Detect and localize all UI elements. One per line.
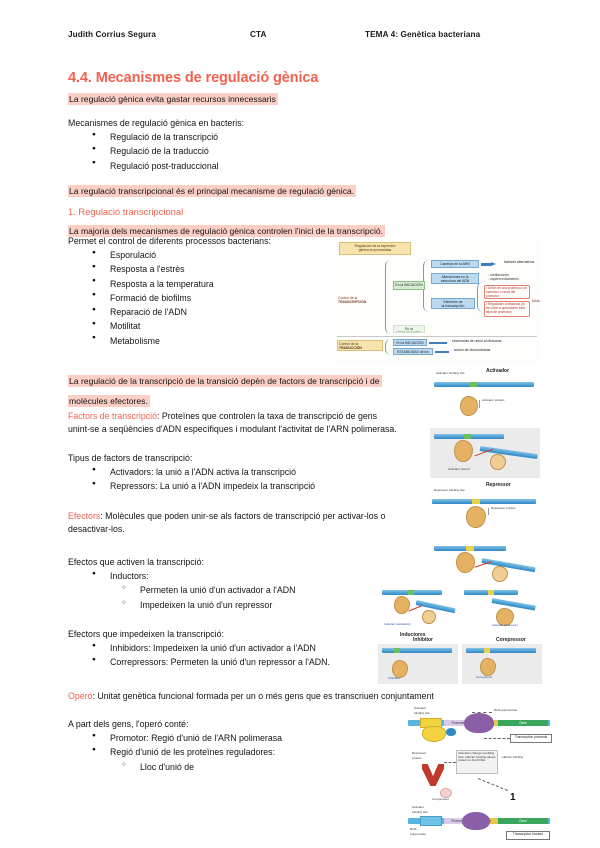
- concept-map-branch-3: Efectores de la transcripción: [431, 298, 475, 309]
- figure-repressor-top: Repressor Repressor binding site Repress…: [430, 482, 540, 538]
- inducer-activator-label: Inductor (activador): [384, 623, 411, 627]
- figure-activator-top: Activador Activator binding site Activat…: [430, 368, 540, 426]
- leader-line: [479, 400, 480, 408]
- operon-parts-heading: A part dels gens, l'operó conté:: [68, 718, 398, 731]
- list-item: Regió d'unió de les proteïnes reguladore…: [68, 745, 398, 759]
- transition-highlight-block: La regulació de la transcripció de la tr…: [68, 371, 468, 409]
- activator-binding-site-label: Activator binding site: [436, 372, 465, 376]
- concept-map-brace-1: [385, 260, 394, 334]
- operon-transcription-on: Transcription proceeds: [510, 734, 552, 743]
- repressor-protein-label: Repressor protein: [491, 507, 516, 511]
- concept-map-initiation: En la INICIACIÓN: [393, 281, 425, 290]
- polymerase-strand: [492, 598, 536, 611]
- transition-highlight-line2: molècules efectores.: [68, 391, 468, 409]
- list-item: Permeten la unió d'un activador a l'ADN: [68, 583, 398, 597]
- rna-polymerase-shape: [422, 610, 436, 624]
- corepressor-protein-shape: [480, 658, 496, 676]
- concept-map-branch-3-right-2: • Regulación a distancia (la de unión a …: [484, 301, 530, 317]
- inhibitor-label: Inhibidor: [388, 677, 400, 681]
- effector-shape: [446, 728, 456, 736]
- dna-operator-segment: [472, 499, 480, 504]
- concept-map-branch-1-right: factores alternativos: [503, 259, 537, 268]
- activator-protein-shape: [460, 396, 478, 416]
- operon-transcription-off: Transcription blocked: [506, 831, 550, 840]
- concept-map-branch-3-tail: Moduladores: [531, 298, 540, 306]
- operon-definition-block: Operó: Unitat genètica funcional formada…: [68, 690, 528, 703]
- operon-activator-notbound-label: Activator: [412, 806, 424, 810]
- leader-line: [444, 762, 456, 763]
- operon-callout: Allosteric change resulting from effecto…: [456, 750, 498, 774]
- effectors-block: Efectors: Molècules que poden unir-se al…: [68, 510, 418, 536]
- dna-operator-segment: [484, 648, 490, 653]
- concept-map-termination: En la TERMINACIÓN: [393, 325, 425, 333]
- dna-strand: [434, 546, 506, 551]
- concept-map-title-line2: génica en procariotas: [359, 248, 391, 252]
- transition-highlight-line1: La regulació de la transcripció de la tr…: [68, 371, 468, 389]
- main-highlight-block: La regulació transcripcional és el princ…: [68, 181, 468, 199]
- main-highlight: La regulació transcripcional és el princ…: [68, 185, 356, 197]
- activator-bound-label: Activator bound: [448, 468, 470, 472]
- operon-activator-site-label-2: binding site: [414, 712, 430, 716]
- inhibiting-effects-heading: Efectors que impedeixen la transcripció:: [68, 628, 418, 641]
- dna-strand: [434, 434, 504, 439]
- activator-caption: Activador: [486, 368, 509, 374]
- concept-map-trad-2: ESTABILIDAD de los ARNm: [393, 348, 433, 355]
- dna-strand: [382, 648, 452, 653]
- inhibitor-caption: Inhibitor: [413, 637, 433, 643]
- page-title-block: 4.4. Mecanismes de regulació gènica: [68, 70, 368, 87]
- corepressor-caption: Corepressor: [496, 637, 526, 643]
- concept-map-trad-1-right: secuencias de unión al ribosoma: [451, 338, 511, 345]
- operon-gene-bottom: Gene: [498, 818, 548, 824]
- transcription-factors-block: Factors de transcripció: Proteïnes que c…: [68, 410, 398, 436]
- concept-map-arrow-1: [491, 262, 496, 266]
- tf-definition-line1: Factors de transcripció: Proteïnes que c…: [68, 410, 398, 423]
- document-page: Judith Corrius Segura CTA TEMA 4: Genèti…: [0, 0, 600, 848]
- operon-gene-top: Gene: [498, 720, 548, 726]
- rna-polymerase-shape: [464, 713, 494, 733]
- list-item: Regulació de la transcripció: [68, 130, 388, 144]
- dna-binding-segment: [408, 590, 414, 595]
- figure-operon-schematic: Activator binding site RNA polymerase Pr…: [406, 706, 552, 842]
- dna-operator-segment: [466, 546, 474, 551]
- tf-types-list: Activadors: la unió a l'ADN activa la tr…: [68, 465, 398, 494]
- intro-lead: Mecanismes de regulació gènica en bacter…: [68, 117, 388, 130]
- list-item: Repressors: La unió a l'ADN impedeix la …: [68, 479, 398, 493]
- list-item: Inhibidors: Impedeixen la unió d'un acti…: [68, 641, 418, 655]
- figure-inhibitor: Inhibidor: [378, 644, 458, 684]
- dna-binding-segment: [470, 382, 477, 387]
- intro-block: Mecanismes de regulació gènica en bacter…: [68, 117, 388, 173]
- inhibiting-effects-list: Inhibidors: Impedeixen la unió d'un acti…: [68, 641, 418, 670]
- rna-polymerase-shape: [462, 812, 490, 830]
- section1-list: Esporulació Resposta a l'estrès Resposta…: [68, 248, 338, 348]
- activating-effects-block: Efectos que activen la transcripció: Ind…: [68, 556, 398, 612]
- tf-types-heading: Tipus de factors de transcripció:: [68, 452, 398, 465]
- repressor-binding-site-label: Repressor binding site: [434, 489, 465, 493]
- repressor-protein-shape: [422, 764, 444, 786]
- leader-line: [478, 778, 508, 791]
- corepressor-label: Correpresor: [476, 676, 493, 680]
- concept-map-arrow-bar-1: [481, 263, 491, 266]
- intro-list: Regulació de la transcripció Regulació d…: [68, 130, 388, 173]
- header-topic: TEMA 4: Genètica bacteriana: [365, 30, 480, 39]
- tf-definition-line2: unint-se a seqüències d'ADN específiques…: [68, 423, 398, 436]
- dna-operator-segment: [488, 590, 494, 595]
- operon-repressor-label-2: protein: [412, 757, 421, 761]
- operon-dna-label: RNA: [410, 828, 417, 832]
- operon-repressor-label: Repressor: [412, 752, 426, 756]
- list-item: Metabolisme: [68, 334, 338, 348]
- repressor-protein-shape: [466, 506, 486, 528]
- effectors-definition-line1: Efectors: Molècules que poden unir-se al…: [68, 510, 418, 523]
- concept-map-divider: [337, 336, 537, 337]
- tf-term: Factors de transcripció: [68, 411, 157, 421]
- activator-protein-label: Activator protein: [482, 399, 504, 403]
- dna-strand: [464, 590, 518, 595]
- rna-polymerase-shape: [490, 454, 506, 470]
- repressor-caption: Repressor: [486, 482, 511, 488]
- concept-map-branch-2-right: - metilaciones - superenrollamiento: [487, 272, 535, 284]
- concept-map-trad-1: En la INICIACIÓN: [393, 339, 427, 346]
- figure-repressor-bound: [430, 538, 540, 586]
- title-highlight: La regulació gènica evita gastar recurso…: [68, 93, 278, 105]
- dna-strand: [434, 382, 534, 387]
- operon-dna-label-2: polymerase: [410, 833, 426, 837]
- dna-strand: [432, 499, 536, 504]
- figure-corepressor: Correpresor: [462, 644, 542, 684]
- list-item: Lloc d'unió de: [68, 760, 398, 774]
- list-item: Esporulació: [68, 248, 338, 262]
- operon-parts-list: Promotor: Regió d'unió de l'ARN polimera…: [68, 731, 398, 774]
- inducer-repressor-label: Inductor (represor): [492, 624, 518, 628]
- polymerase-strand: [482, 558, 536, 572]
- activator-protein-shape: [454, 440, 473, 462]
- list-item: Correpressors: Permeten la unió d'un rep…: [68, 655, 418, 669]
- operon-term: Operó: [68, 691, 92, 701]
- polymerase-strand: [415, 600, 455, 613]
- dna-binding-segment: [394, 648, 400, 653]
- operon-corepressor-label: Corepressor: [432, 798, 449, 802]
- dna-strand: [382, 590, 442, 595]
- activating-effects-list: Inductors: Permeten la unió d'un activad…: [68, 569, 398, 612]
- operon-definition: Operó: Unitat genètica funcional formada…: [68, 690, 528, 703]
- concept-map-branch-1: Cambios en la ARN polimerasa: [431, 260, 479, 268]
- list-item: Promotor: Regió d'unió de l'ARN polimera…: [68, 731, 398, 745]
- operon-parts-block: A part dels gens, l'operó conté: Promoto…: [68, 718, 398, 774]
- operon-activator-site-label: Activator: [414, 707, 426, 711]
- dna-strand: [466, 648, 536, 653]
- concept-map-left-label: Control de la TRANSCRIPCIÓN: [337, 295, 383, 306]
- concept-map-left-label-2: Control de la TRADUCCIÓN: [337, 340, 383, 351]
- header-author: Judith Corrius Segura: [68, 30, 156, 39]
- dna-binding-segment: [464, 434, 471, 439]
- section1-heading: 1. Regulació transcripcional: [68, 206, 398, 217]
- figure-inducer-left: Inductor (activador): [378, 588, 458, 632]
- concept-map-branch-3-right-1: • Unión de una proteína a un operador o …: [484, 285, 530, 299]
- list-item: Resposta a la temperatura: [68, 277, 338, 291]
- polymerase-strand: [480, 446, 538, 459]
- activator-site-block-empty: [420, 816, 442, 826]
- figure-concept-map: Regulación de la expresión génica en pro…: [335, 240, 540, 362]
- page-title: 4.4. Mecanismes de regulació gènica: [68, 70, 368, 87]
- list-item: Resposta a l'estrès: [68, 262, 338, 276]
- list-item: Regulació post-traduccional: [68, 159, 388, 173]
- activating-effects-heading: Efectos que activen la transcripció:: [68, 556, 398, 569]
- rna-polymerase-shape: [492, 566, 508, 582]
- operon-rnap-label: RNA polymerase: [494, 709, 517, 713]
- effectors-term: Efectors: [68, 511, 100, 521]
- list-item: Impedeixen la unió d'un repressor: [68, 598, 398, 612]
- list-item: Activadors: la unió a l'ADN activa la tr…: [68, 465, 398, 479]
- concept-map-branch-2: Alteraciones en la estructura del ADN: [431, 273, 479, 284]
- operon-activator-notbound-label-2: binding site: [412, 811, 428, 815]
- concept-map-trad-2-right: acción de ribonucleasas: [453, 347, 505, 354]
- operon-step-number: 1: [510, 792, 516, 803]
- effectors-definition-line2: desactivar-los.: [68, 523, 418, 536]
- list-item: Inductors:: [68, 569, 398, 583]
- section1-heading-block: 1. Regulació transcripcional: [68, 206, 398, 217]
- leader-line: [484, 738, 510, 739]
- inhibiting-effects-block: Efectors que impedeixen la transcripció:…: [68, 628, 418, 670]
- repressor-protein-shape: [456, 552, 475, 573]
- section1-body: Permet el control de diferents processos…: [68, 235, 338, 348]
- list-item: Formació de biofilms: [68, 291, 338, 305]
- concept-map-title: Regulación de la expresión génica en pro…: [339, 242, 411, 255]
- operon-allosteric-note: effector binding: [502, 756, 523, 760]
- concept-map-bar-trad-2: [435, 351, 449, 354]
- list-item: Motilitat: [68, 319, 338, 333]
- list-item: Regulació de la traducció: [68, 144, 388, 158]
- concept-map-bar-trad-1: [429, 342, 447, 345]
- section1-lead: Permet el control de diferents processos…: [68, 235, 338, 248]
- header-course: CTA: [250, 30, 267, 39]
- concept-map-brace-4: [385, 339, 393, 355]
- list-item: Reparació de l'ADN: [68, 305, 338, 319]
- title-highlight-block: La regulació gènica evita gastar recurso…: [68, 89, 368, 107]
- tf-types-block: Tipus de factors de transcripció: Activa…: [68, 452, 398, 494]
- figure-activator-bound: Activator bound: [430, 428, 540, 478]
- leader-line: [488, 508, 489, 515]
- figure-inducer-right: Inductor (represor): [462, 588, 542, 632]
- activator-protein-shape: [422, 726, 446, 742]
- activation-arrow: [408, 605, 421, 611]
